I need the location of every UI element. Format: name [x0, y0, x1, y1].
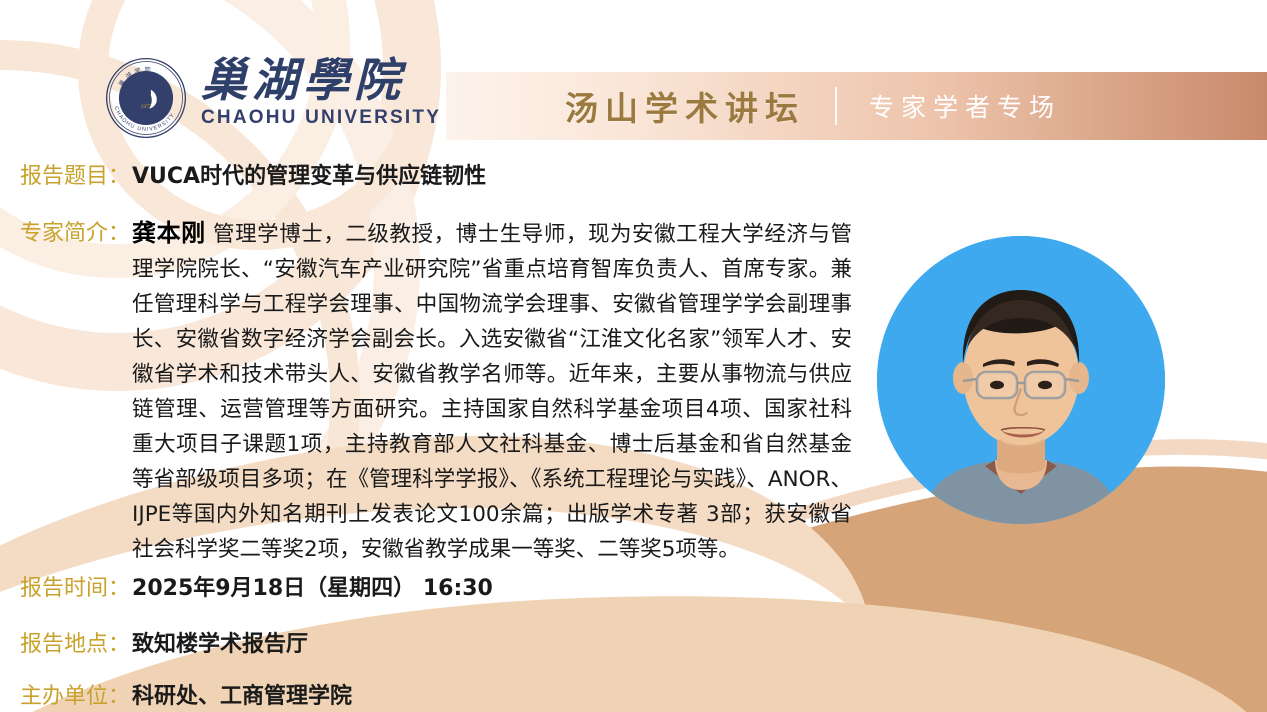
poster-header: 汤山学术讲坛 专家学者专场 1977 巢 湖 学 院 CHAO [0, 0, 1267, 150]
banner-title: 汤山学术讲坛 [565, 82, 805, 130]
event-banner: 汤山学术讲坛 专家学者专场 [446, 72, 1267, 140]
banner-subtitle: 专家学者专场 [869, 88, 1061, 124]
speaker-bio-label: 专家简介： [20, 216, 130, 251]
lecture-place-value: 致知楼学术报告厅 [132, 626, 308, 658]
speaker-portrait-image [877, 236, 1165, 524]
university-logo: 1977 巢 湖 学 院 CHAOHU UNIVERSITY 巢湖學院 CHAO… [105, 57, 441, 139]
lecture-host-label: 主办单位： [20, 678, 130, 710]
university-name-en: CHAOHU UNIVERSITY [201, 107, 441, 129]
lecture-place-row: 报告地点： 致知楼学术报告厅 [20, 626, 308, 658]
university-seal-icon: 1977 巢 湖 学 院 CHAOHU UNIVERSITY [105, 57, 187, 139]
speaker-name: 龚本刚 [132, 219, 206, 247]
lecture-title-value: VUCA时代的管理变革与供应链韧性 [132, 158, 486, 190]
lecture-title-row: 报告题目： VUCA时代的管理变革与供应链韧性 [20, 158, 486, 190]
speaker-bio-body: 龚本刚 管理学博士，二级教授，博士生导师，现为安徽工程大学经济与管理学院院长、“… [132, 216, 852, 567]
lecture-host-value: 科研处、工商管理学院 [132, 678, 352, 710]
lecture-time-value: 2025年9月18日（星期四） 16:30 [132, 570, 493, 602]
speaker-portrait [877, 236, 1165, 524]
university-name-cn: 巢湖學院 [201, 55, 441, 105]
lecture-host-row: 主办单位： 科研处、工商管理学院 [20, 678, 352, 710]
lecture-time-label: 报告时间： [20, 570, 130, 602]
lecture-title-label: 报告题目： [20, 158, 130, 190]
lecture-time-row: 报告时间： 2025年9月18日（星期四） 16:30 [20, 570, 493, 602]
lecture-poster: 汤山学术讲坛 专家学者专场 1977 巢 湖 学 院 CHAO [0, 0, 1267, 712]
lecture-place-label: 报告地点： [20, 626, 130, 658]
banner-divider [835, 87, 837, 125]
svg-text:1977: 1977 [141, 104, 152, 110]
speaker-bio-text: 管理学博士，二级教授，博士生导师，现为安徽工程大学经济与管理学院院长、“安徽汽车… [132, 222, 852, 562]
speaker-bio-row: 专家简介： 龚本刚 管理学博士，二级教授，博士生导师，现为安徽工程大学经济与管理… [20, 216, 852, 567]
